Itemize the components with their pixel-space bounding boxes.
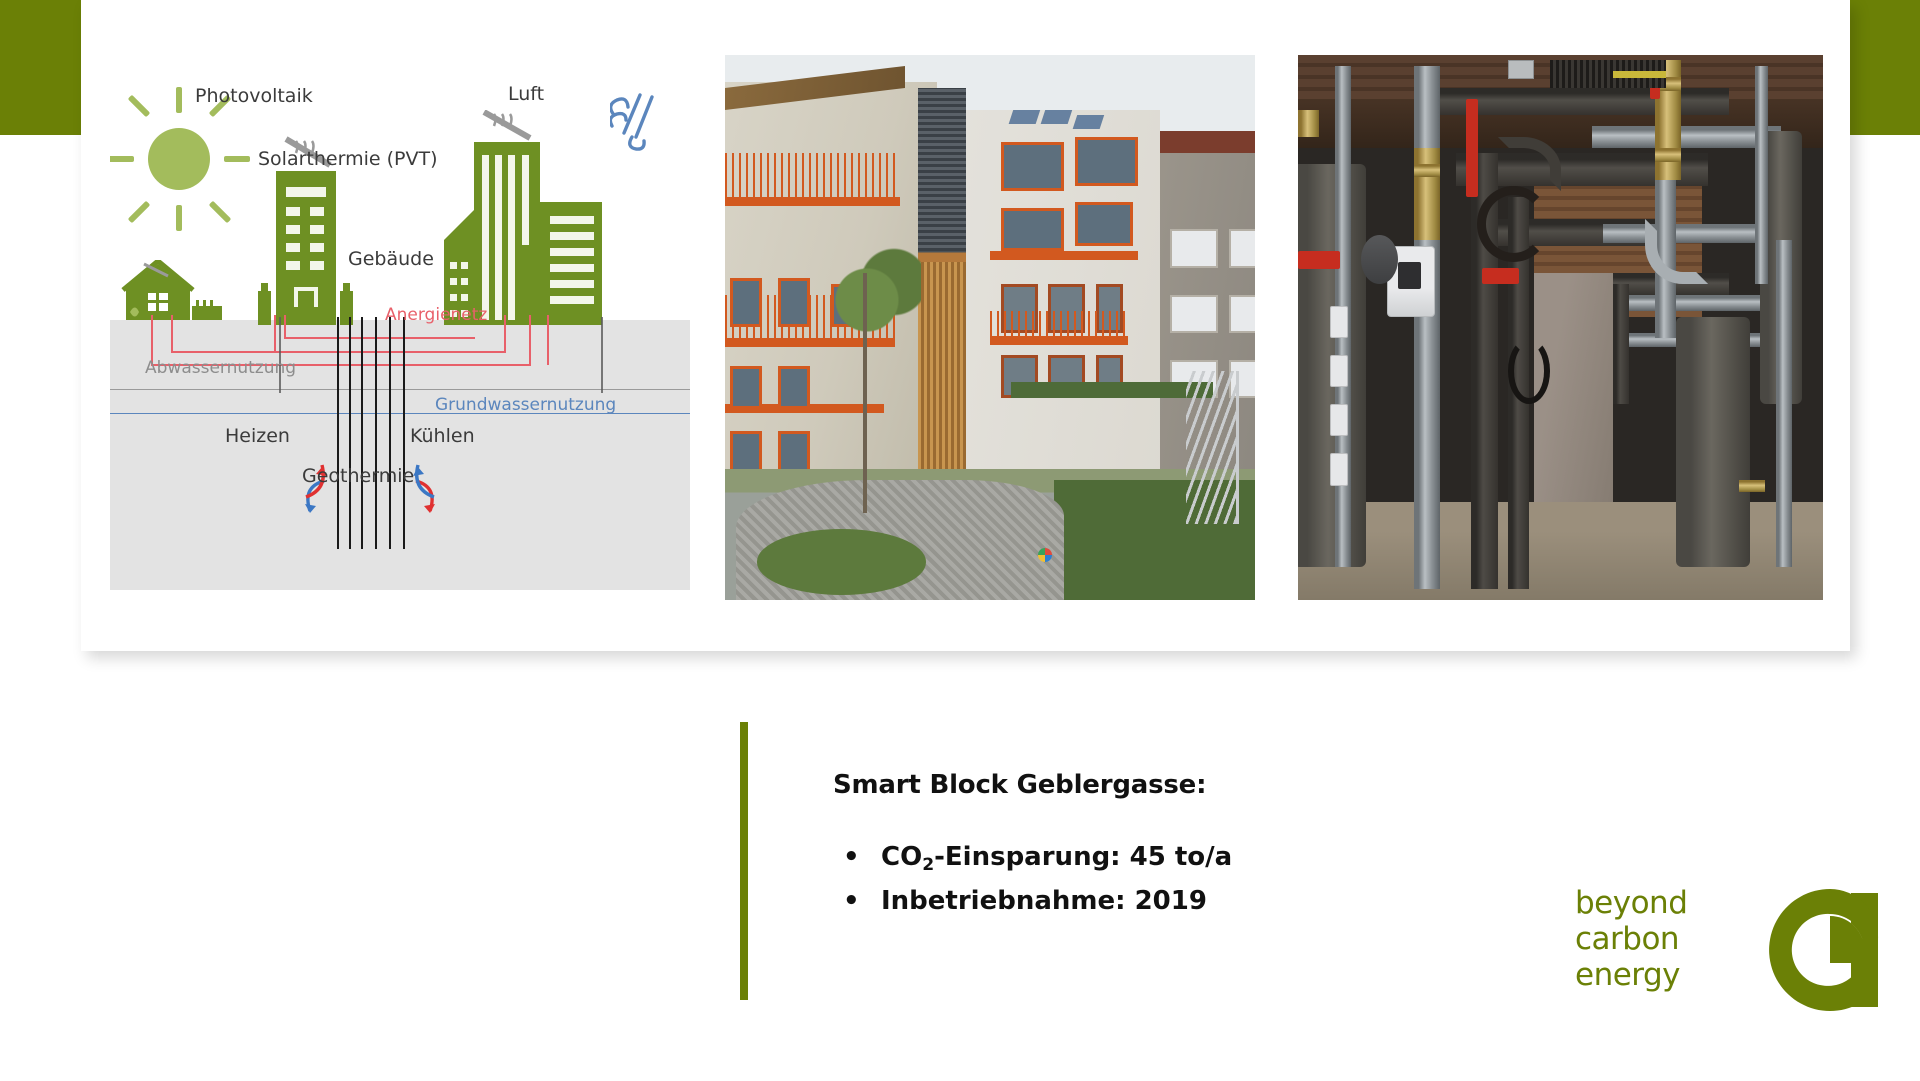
highrise-building-icon [430, 110, 610, 325]
corner-accent-right [1849, 0, 1920, 135]
fact-co2-savings: CO2-Einsparung: 45 to/a [881, 842, 1232, 872]
fact-commissioning-year: Inbetriebnahme: 2019 [881, 886, 1207, 916]
label-geothermie: Geothermie [302, 465, 414, 487]
wind-icon [610, 93, 668, 155]
logo-line-2: carbon [1575, 921, 1735, 957]
list-item: • Inbetriebnahme: 2019 [833, 886, 1593, 916]
corner-accent-left [0, 0, 81, 135]
energy-system-diagram: Photovoltaik Solarthermie (PVT) Gebäude … [110, 55, 690, 600]
courtyard-photo [725, 55, 1255, 600]
project-facts-block: Smart Block Geblergasse: • CO2-Einsparun… [833, 770, 1593, 930]
label-solarthermie: Solarthermie (PVT) [258, 148, 437, 170]
logo-e-mark [1765, 885, 1895, 1015]
label-gebaeude: Gebäude [348, 248, 434, 270]
label-grundwassernutzung: Grundwassernutzung [435, 395, 616, 415]
facts-list: • CO2-Einsparung: 45 to/a • Inbetriebnah… [833, 842, 1593, 916]
label-luft: Luft [508, 83, 544, 105]
list-item: • CO2-Einsparung: 45 to/a [833, 842, 1593, 872]
label-heizen: Heizen [225, 425, 290, 447]
project-title: Smart Block Geblergasse: [833, 770, 1593, 800]
label-anergienetz: Anergienetz [385, 305, 487, 325]
brand-logo: beyond carbon energy [1575, 885, 1895, 1015]
logo-line-3: energy [1575, 957, 1735, 993]
bullet-icon: • [833, 886, 881, 916]
plant-room-photo [1298, 55, 1823, 600]
label-abwassernutzung: Abwassernutzung [145, 358, 296, 378]
logo-wordmark: beyond carbon energy [1575, 885, 1735, 993]
text-accent-bar [740, 722, 748, 1000]
logo-line-1: beyond [1575, 885, 1735, 921]
bullet-icon: • [833, 842, 881, 872]
label-photovoltaik: Photovoltaik [195, 85, 313, 107]
slide-root: Photovoltaik Solarthermie (PVT) Gebäude … [0, 0, 1920, 1081]
label-kuehlen: Kühlen [410, 425, 475, 447]
